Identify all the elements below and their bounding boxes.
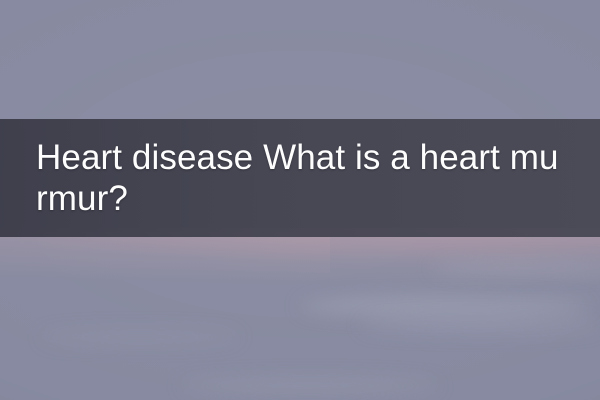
article-image-card[interactable]: Heart disease What is a heart murmur?	[0, 0, 600, 400]
caption-title: Heart disease What is a heart murmur?	[36, 137, 570, 219]
caption-overlay-band: Heart disease What is a heart murmur?	[0, 119, 600, 237]
